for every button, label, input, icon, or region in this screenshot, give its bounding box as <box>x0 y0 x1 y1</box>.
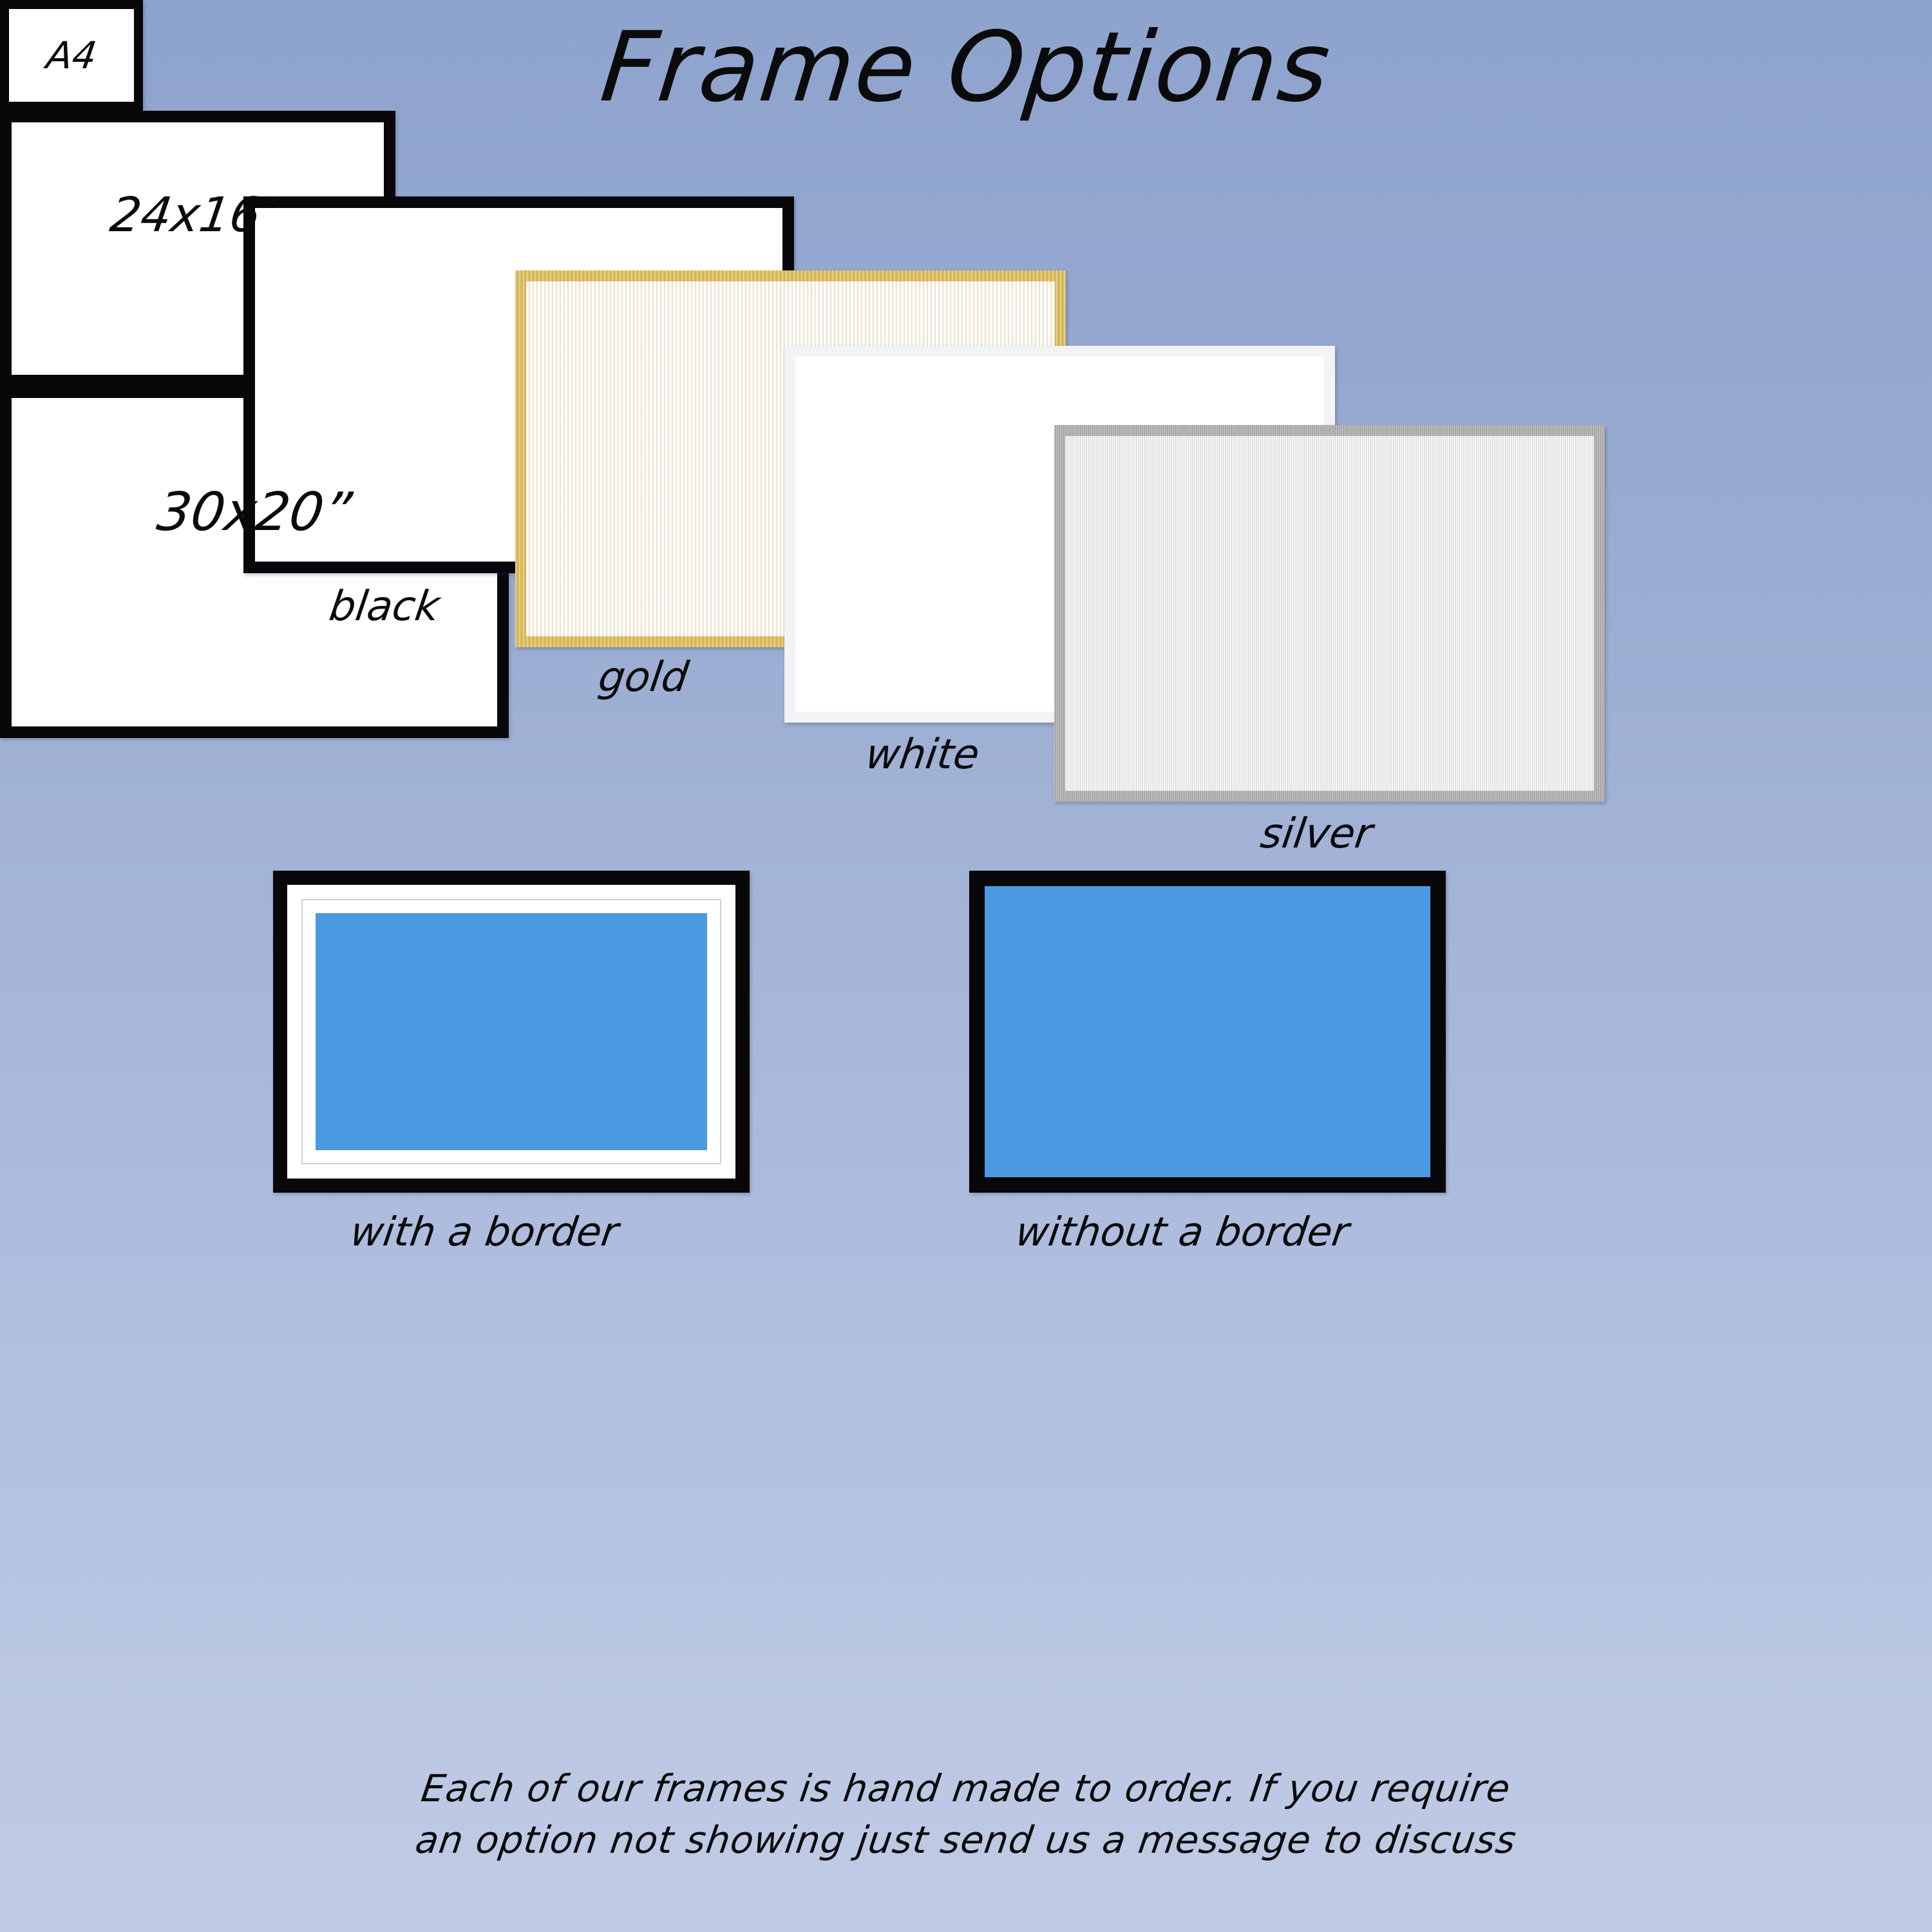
footnote-line-1: Each of our frames is hand made to order… <box>0 1765 1932 1812</box>
frame-label-with-border: with a border <box>348 1208 621 1255</box>
size-label-24x16: 24x16” <box>107 187 289 243</box>
frame-options-poster: Frame Options black gold white silver wi… <box>0 0 1932 1932</box>
size-label-a4: A4 <box>44 33 99 77</box>
page-title: Frame Options <box>0 19 1932 116</box>
size-label-30x20: 30x20” <box>153 482 355 543</box>
footnote-line-2: an option not showing just send us a mes… <box>0 1816 1932 1864</box>
frame-without-border[interactable] <box>969 871 1446 1193</box>
frame-label-silver: silver <box>1258 810 1376 858</box>
frame-label-without-border: without a border <box>1013 1208 1352 1255</box>
frame-label-black: black <box>327 583 442 630</box>
frame-mat <box>301 899 721 1164</box>
frame-with-border[interactable] <box>273 871 750 1193</box>
frame-label-white: white <box>863 731 983 779</box>
frame-swatch-silver[interactable] <box>1054 425 1605 802</box>
frame-label-gold: gold <box>596 654 692 701</box>
frame-artwork <box>316 913 707 1150</box>
